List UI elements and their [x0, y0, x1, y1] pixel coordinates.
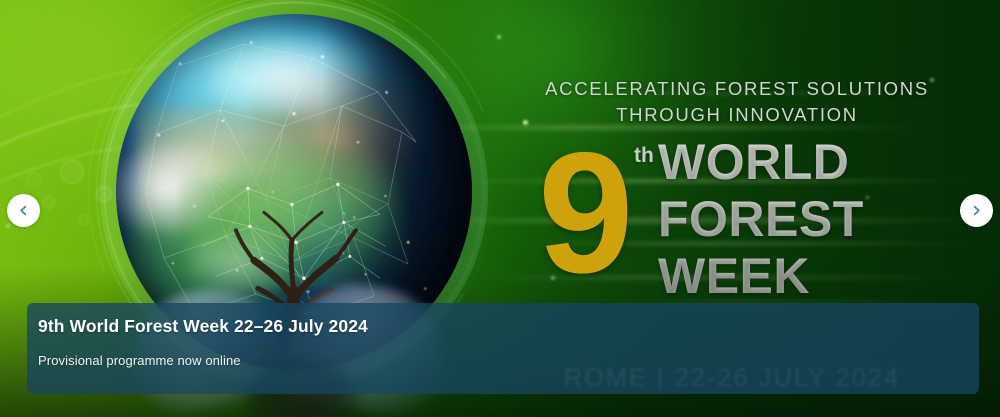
- slide-caption[interactable]: 9th World Forest Week 22–26 July 2024 Pr…: [27, 303, 979, 394]
- carousel-previous-button[interactable]: [7, 194, 40, 227]
- event-name-line-1: WORLD: [658, 134, 864, 191]
- event-name-line-2: FOREST: [658, 191, 864, 248]
- event-name-line-3: WEEK: [658, 248, 864, 305]
- event-name: WORLD FOREST WEEK: [658, 134, 864, 305]
- tagline-line-1: ACCELERATING FOREST SOLUTIONS: [528, 76, 946, 102]
- chevron-right-icon: [970, 204, 983, 217]
- hero-carousel: ACCELERATING FOREST SOLUTIONS THROUGH IN…: [0, 0, 1000, 417]
- carousel-next-button[interactable]: [960, 194, 993, 227]
- chevron-left-icon: [17, 204, 30, 217]
- event-title-row: 9 th WORLD FOREST WEEK ROME | 22-26 JULY…: [506, 136, 946, 316]
- caption-title: 9th World Forest Week 22–26 July 2024: [38, 316, 979, 337]
- caption-subtitle: Provisional programme now online: [38, 353, 979, 368]
- edition-ordinal-suffix: th: [634, 144, 654, 168]
- edition-number: 9: [538, 138, 630, 288]
